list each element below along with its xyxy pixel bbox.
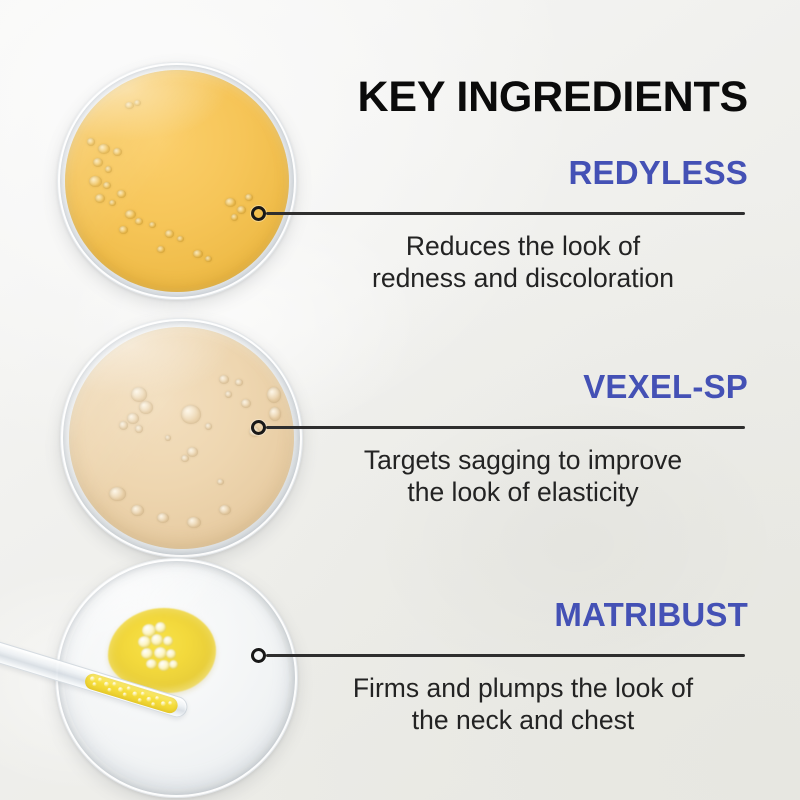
dish-fill-beige (69, 327, 294, 549)
connector-dot-vexel-sp (251, 420, 266, 435)
page-title: KEY INGREDIENTS (358, 76, 748, 119)
ingredient-block-redyless: REDYLESS (298, 156, 748, 191)
ingredient-desc-matribust: Firms and plumps the look of the neck an… (298, 664, 748, 737)
connector-dot-matribust (251, 648, 266, 663)
petri-dish-vexel-sp (60, 318, 303, 558)
ingredient-desc-redyless: Reduces the look of redness and discolor… (298, 222, 748, 295)
ingredient-desc-vexel-sp: Targets sagging to improve the look of e… (298, 436, 748, 509)
ingredient-block-vexel-sp: VEXEL-SP (298, 370, 748, 405)
ingredient-desc-line-1: Targets sagging to improve (298, 445, 748, 477)
ingredient-desc-line-2: the look of elasticity (298, 477, 748, 509)
ingredient-desc-line-2: the neck and chest (298, 705, 748, 737)
petri-dish-redyless (57, 62, 297, 300)
ingredient-desc-line-1: Reduces the look of (298, 231, 748, 263)
ingredient-name-redyless: REDYLESS (298, 156, 748, 191)
connector-dot-redyless (251, 206, 266, 221)
ingredient-block-matribust: MATRIBUST (298, 598, 748, 633)
ingredients-panel: KEY INGREDIENTS REDYLESS Reduces the loo… (300, 0, 800, 800)
dish-fill-golden (65, 70, 289, 292)
ingredient-desc-line-2: redness and discoloration (298, 263, 748, 295)
ingredient-name-vexel-sp: VEXEL-SP (298, 370, 748, 405)
ingredient-desc-line-1: Firms and plumps the look of (298, 673, 748, 705)
ingredient-infographic: KEY INGREDIENTS REDYLESS Reduces the loo… (0, 0, 800, 800)
ingredient-name-matribust: MATRIBUST (298, 598, 748, 633)
